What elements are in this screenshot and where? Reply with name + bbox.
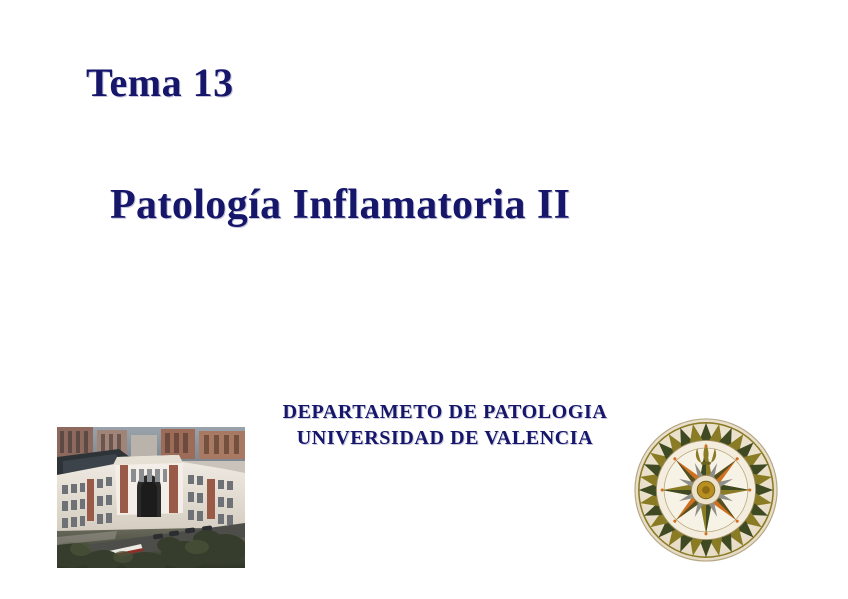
antique-compass-rose bbox=[631, 417, 781, 563]
building-photo-graphic bbox=[57, 427, 245, 568]
department-credit: DEPARTAMETO DE PATOLOGIA UNIVERSIDAD DE … bbox=[240, 400, 650, 451]
compass-rose-graphic bbox=[631, 417, 781, 563]
page-title: Patología Inflamatoria II bbox=[110, 183, 570, 227]
presentation-slide: Tema 13 Patología Inflamatoria II DEPART… bbox=[0, 0, 848, 599]
topic-label: Tema 13 bbox=[86, 62, 234, 104]
department-line-1: DEPARTAMETO DE PATOLOGIA bbox=[240, 400, 650, 426]
department-line-2: UNIVERSIDAD DE VALENCIA bbox=[240, 426, 650, 452]
aerial-photo-university-building bbox=[57, 427, 245, 568]
